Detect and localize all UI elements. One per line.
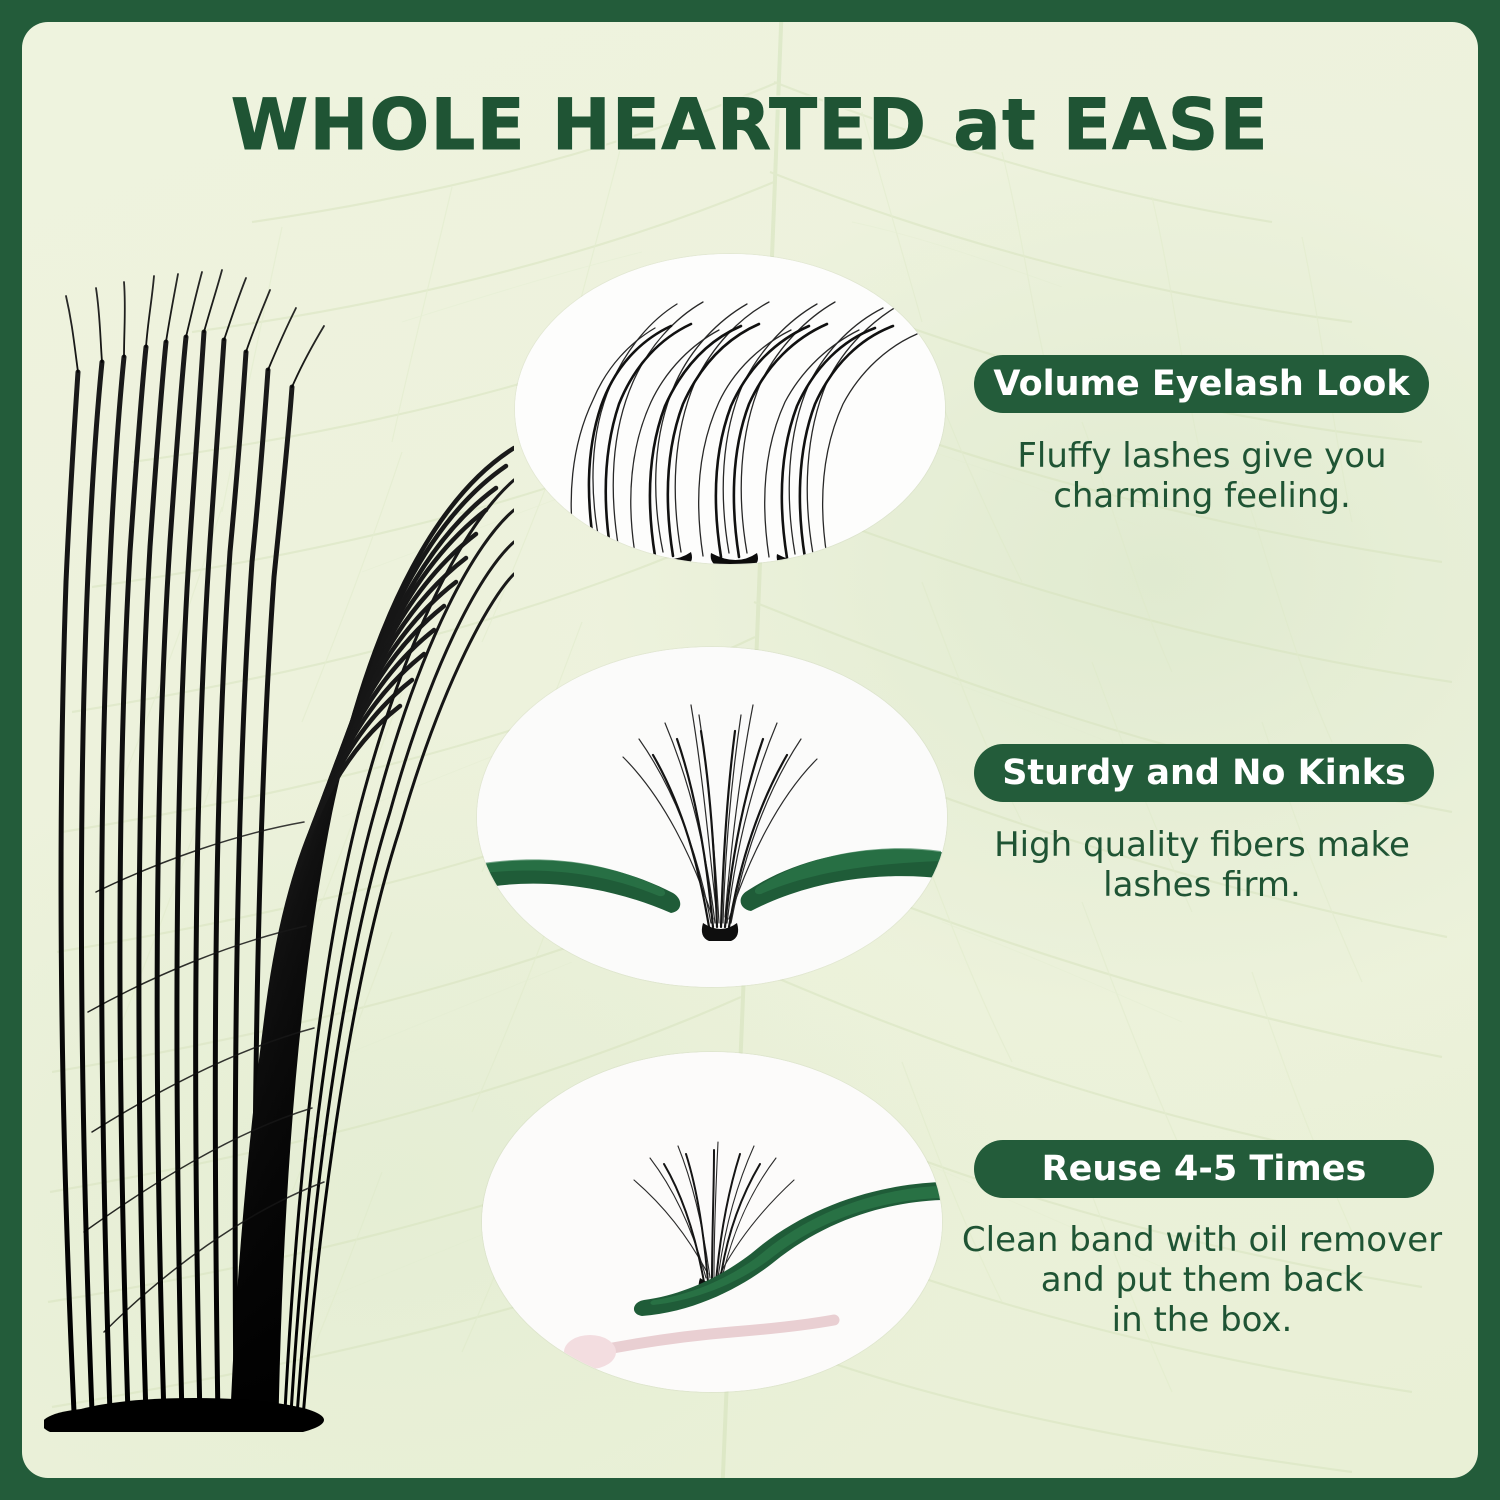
feature-2-pill: Sturdy and No Kinks [974,744,1434,802]
product-infographic: WHOLE HEARTED at EASE [0,0,1500,1500]
feature-1-desc-line-1: Fluffy lashes give you [967,436,1437,476]
feature-3-pill: Reuse 4-5 Times [974,1140,1434,1198]
page-title: WHOLE HEARTED at EASE [22,84,1478,166]
hero-lash-photo [44,252,514,1432]
feature-1-pill: Volume Eyelash Look [974,355,1429,413]
tweezers-holding-cluster-illustration [477,647,947,987]
lash-clusters-closeup-illustration [515,254,945,564]
feature-3-desc-line-3: in the box. [942,1300,1462,1340]
tweezers-placing-cluster-illustration [482,1052,942,1392]
feature-2-desc-line-1: High quality fibers make [967,825,1437,865]
feature-2-photo [477,647,947,987]
feature-3-description: Clean band with oil remover and put them… [942,1220,1462,1340]
feature-1-desc-line-2: charming feeling. [967,476,1437,516]
feature-2-desc-line-2: lashes firm. [967,865,1437,905]
feature-1-photo [515,254,945,564]
feature-2-description: High quality fibers make lashes firm. [967,825,1437,905]
feature-3-desc-line-1: Clean band with oil remover [942,1220,1462,1260]
feature-3-photo [482,1052,942,1392]
feature-1-description: Fluffy lashes give you charming feeling. [967,436,1437,516]
feature-3-desc-line-2: and put them back [942,1260,1462,1300]
content-panel: WHOLE HEARTED at EASE [22,22,1478,1478]
lash-fibers-illustration [44,252,514,1432]
